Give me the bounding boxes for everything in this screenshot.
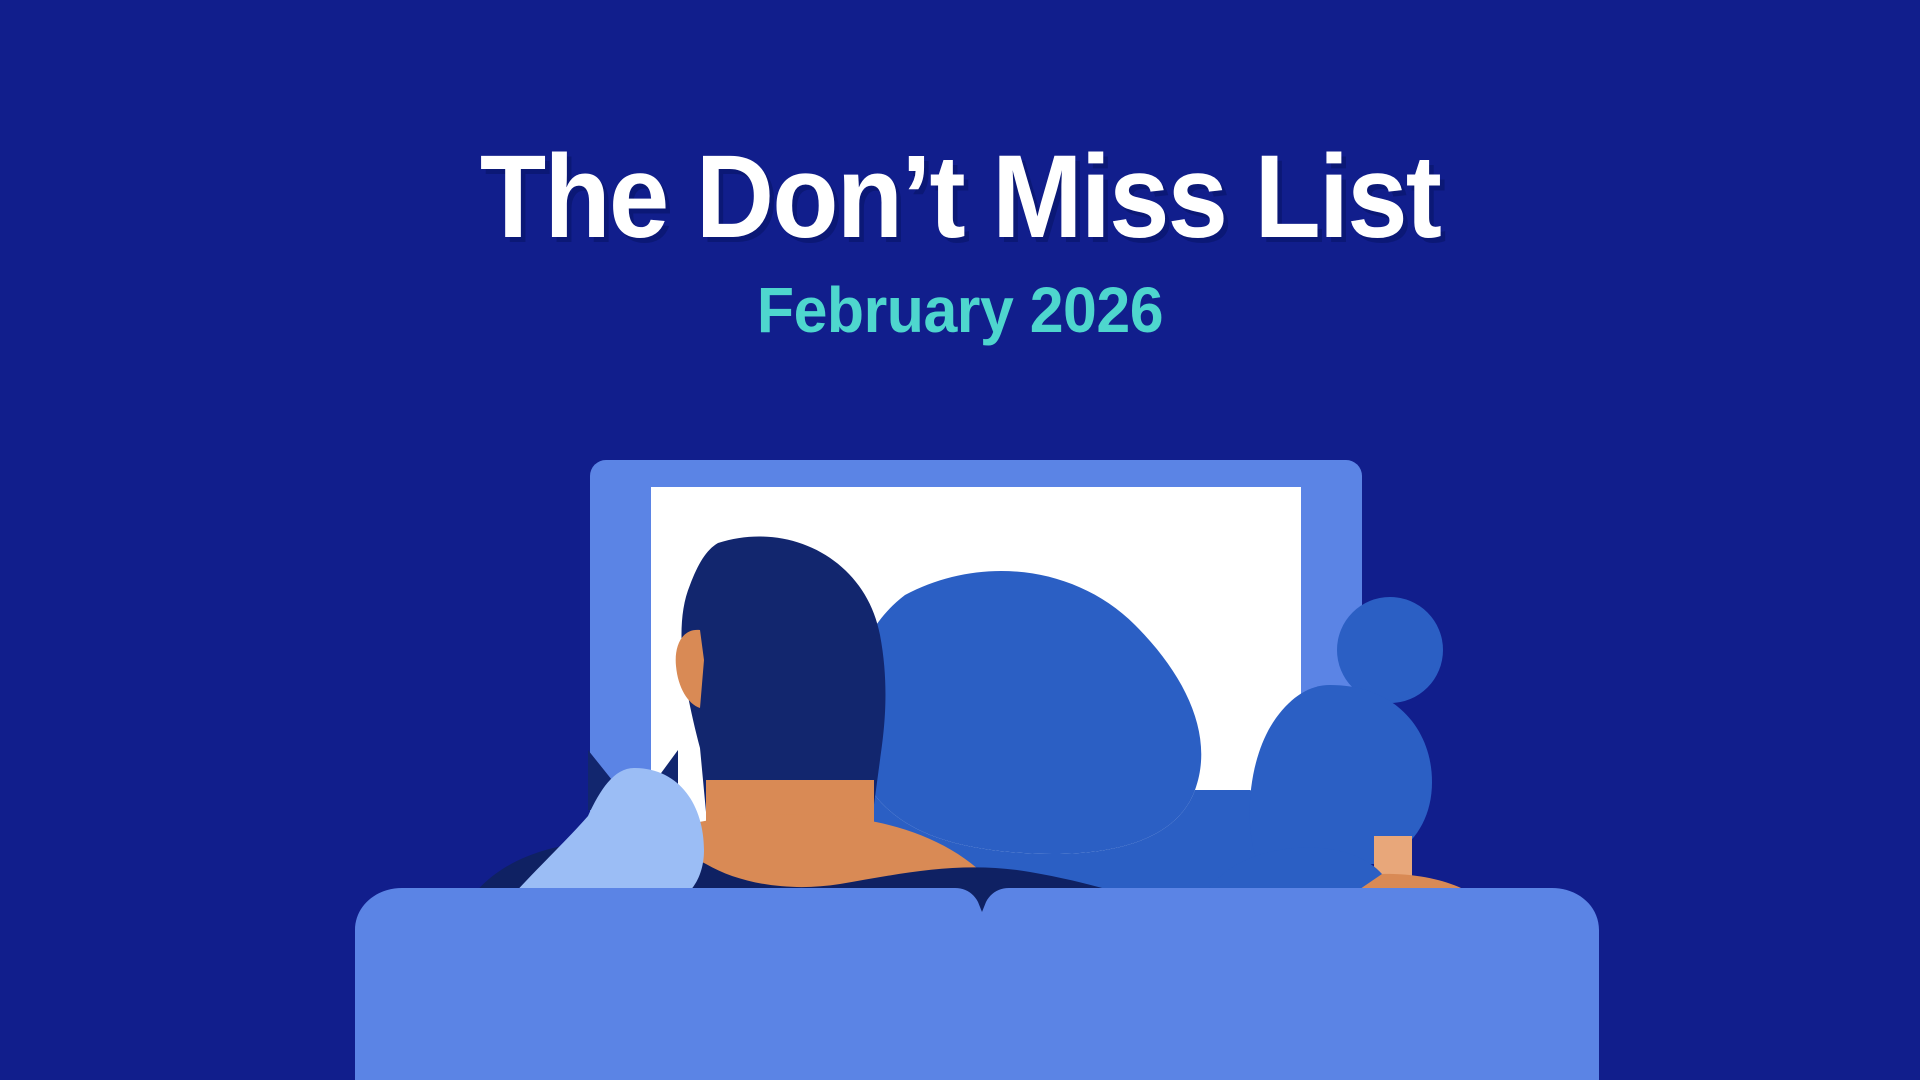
illustration-svg bbox=[0, 460, 1920, 1080]
page-title: The Don’t Miss List bbox=[77, 0, 1843, 256]
page-subtitle: February 2026 bbox=[48, 256, 1872, 342]
illustration bbox=[0, 460, 1920, 1080]
header-block: The Don’t Miss List February 2026 bbox=[0, 0, 1920, 342]
newsletter-hero-banner: The Don’t Miss List February 2026 bbox=[0, 0, 1920, 1080]
sofa bbox=[355, 888, 1599, 1080]
